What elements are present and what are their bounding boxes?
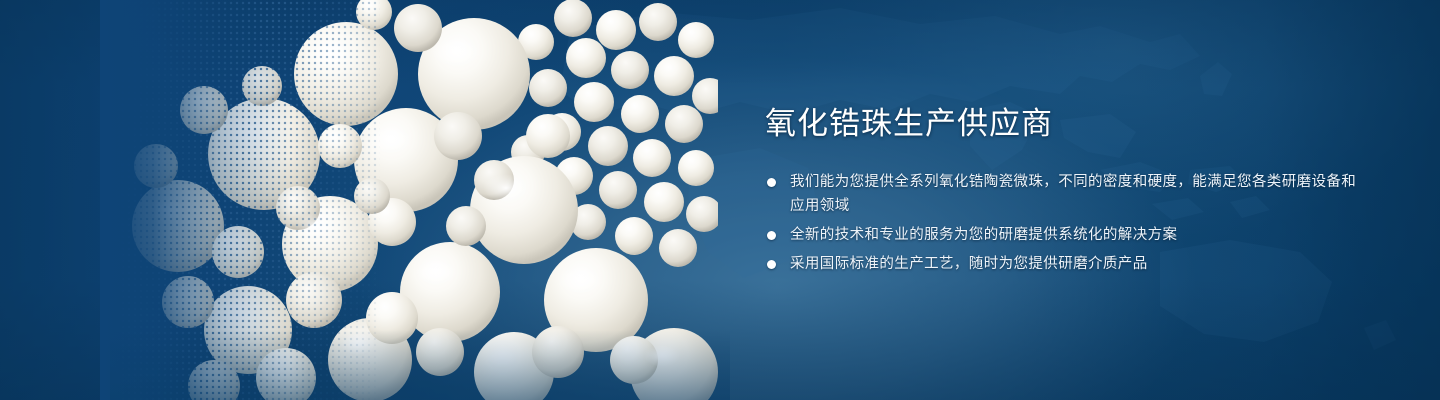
- hero-banner: 氧化锆珠生产供应商 我们能为您提供全系列氧化锆陶瓷微珠，不同的密度和硬度，能满足…: [0, 0, 1440, 400]
- banner-headline: 氧化锆珠生产供应商: [765, 104, 1365, 144]
- bullet-text: 全新的技术和专业的服务为您的研磨提供系统化的解决方案: [790, 223, 1365, 247]
- list-item: 全新的技术和专业的服务为您的研磨提供系统化的解决方案: [765, 223, 1365, 247]
- zirconia-beads-photo-icon: [118, 0, 718, 400]
- bullet-dot-icon: [767, 260, 776, 269]
- list-item: 我们能为您提供全系列氧化锆陶瓷微珠，不同的密度和硬度，能满足您各类研磨设备和应用…: [765, 170, 1365, 218]
- list-item: 采用国际标准的生产工艺，随时为您提供研磨介质产品: [765, 252, 1365, 276]
- bullet-text: 采用国际标准的生产工艺，随时为您提供研磨介质产品: [790, 252, 1365, 276]
- banner-copy: 氧化锆珠生产供应商 我们能为您提供全系列氧化锆陶瓷微珠，不同的密度和硬度，能满足…: [765, 104, 1365, 276]
- bullet-dot-icon: [767, 178, 776, 187]
- bullet-text: 我们能为您提供全系列氧化锆陶瓷微珠，不同的密度和硬度，能满足您各类研磨设备和应用…: [790, 170, 1365, 218]
- banner-feature-list: 我们能为您提供全系列氧化锆陶瓷微珠，不同的密度和硬度，能满足您各类研磨设备和应用…: [765, 170, 1365, 276]
- bullet-dot-icon: [767, 231, 776, 240]
